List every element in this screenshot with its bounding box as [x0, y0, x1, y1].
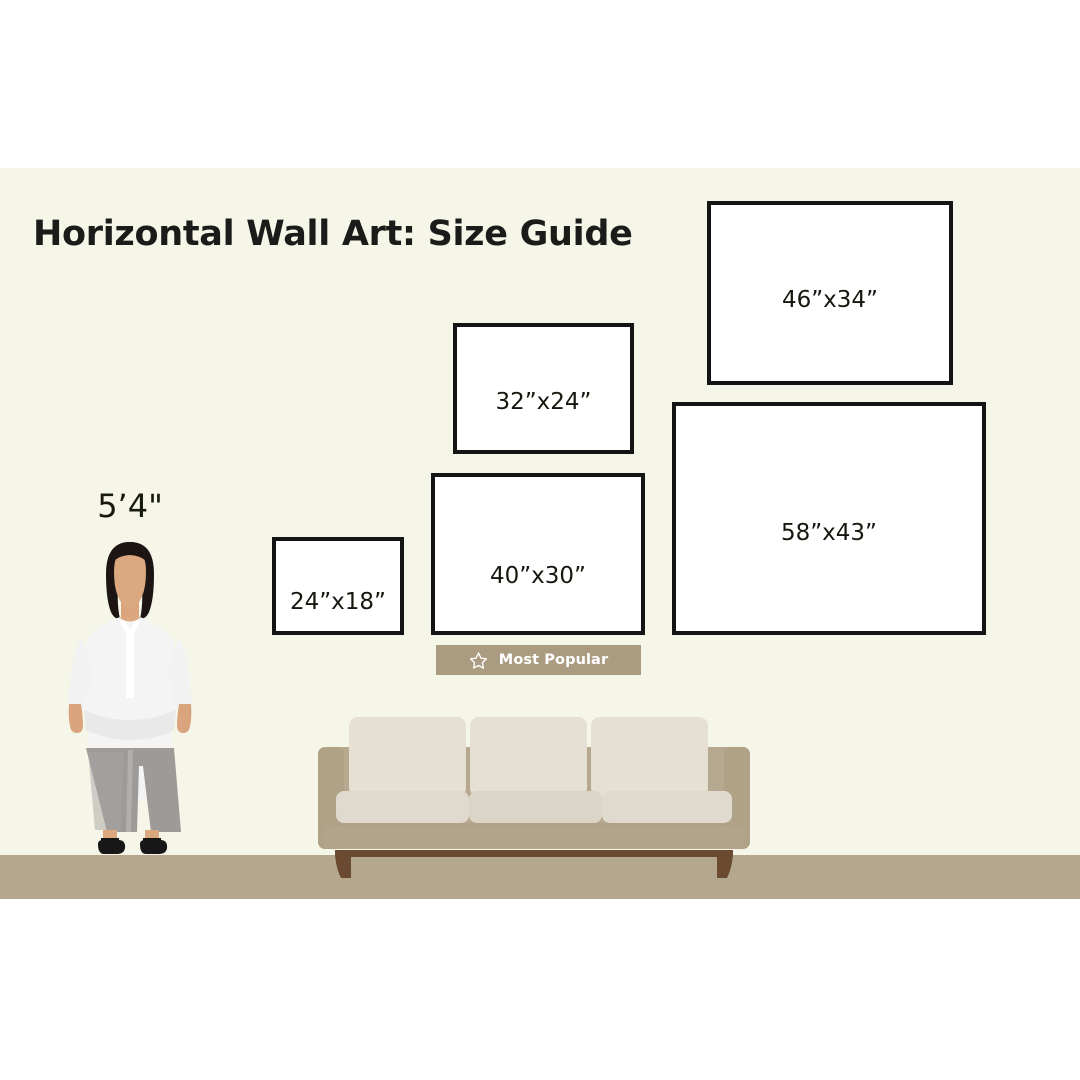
- page-title: Horizontal Wall Art: Size Guide: [33, 214, 633, 254]
- art-frame-label: 46”x34”: [782, 287, 878, 313]
- art-frame-40x30[interactable]: 40”x30”: [431, 473, 645, 635]
- art-frame-label: 32”x24”: [496, 389, 592, 415]
- art-frame-24x18[interactable]: 24”x18”: [272, 537, 404, 635]
- art-frame-label: 24”x18”: [290, 589, 386, 615]
- size-guide-scene: Horizontal Wall Art: Size Guide 5’4": [0, 0, 1080, 1080]
- art-frame-label: 58”x43”: [781, 520, 877, 546]
- art-frame-46x34[interactable]: 46”x34”: [707, 201, 953, 385]
- most-popular-label: Most Popular: [499, 652, 608, 668]
- height-reference-label: 5’4": [80, 487, 180, 525]
- standing-woman-figure: [62, 534, 198, 864]
- three-seat-sofa: [318, 705, 750, 880]
- most-popular-badge[interactable]: Most Popular: [436, 645, 641, 675]
- art-frame-32x24[interactable]: 32”x24”: [453, 323, 634, 454]
- star-outline-icon: [469, 651, 488, 670]
- art-frame-58x43[interactable]: 58”x43”: [672, 402, 986, 635]
- art-frame-label: 40”x30”: [490, 563, 586, 589]
